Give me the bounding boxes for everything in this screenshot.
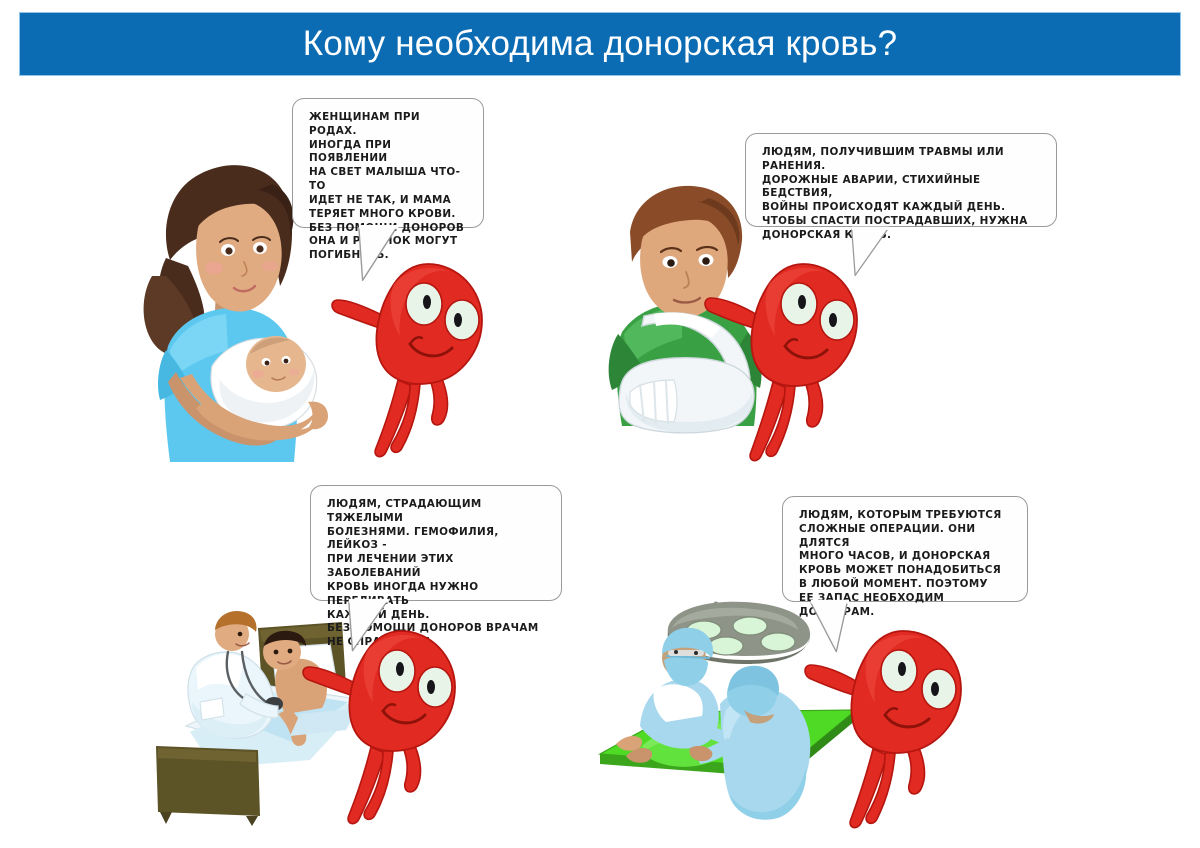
poster-title-banner: Кому необходима донорская кровь? [20, 13, 1180, 75]
speech-bubble-trauma: ЛЮДЯМ, ПОЛУЧИВШИМ ТРАВМЫ ИЛИ РАНЕНИЯ. ДО… [745, 133, 1057, 227]
blood-drop-body-icon [332, 264, 482, 457]
blood-drop-mascot-trauma [705, 258, 885, 463]
page-title: Кому необходима донорская кровь? [303, 24, 898, 64]
blood-drop-body-icon [805, 631, 961, 828]
blood-drop-body-icon [303, 631, 455, 824]
speech-bubble-illness: ЛЮДЯМ, СТРАДАЮЩИМ ТЯЖЕЛЫМИ БОЛЕЗНЯМИ. ГЕ… [310, 485, 562, 601]
blood-drop-body-icon [705, 264, 857, 461]
speech-bubble-surgery: ЛЮДЯМ, КОТОРЫМ ТРЕБУЮТСЯ СЛОЖНЫЕ ОПЕРАЦИ… [782, 496, 1028, 602]
blood-drop-mascot-illness [305, 625, 480, 825]
speech-bubble-birth: ЖЕНЩИНАМ ПРИ РОДАХ. ИНОГДА ПРИ ПОЯВЛЕНИИ… [292, 98, 484, 228]
blood-drop-mascot-birth [332, 258, 507, 458]
blood-drop-mascot-surgery [805, 625, 990, 830]
